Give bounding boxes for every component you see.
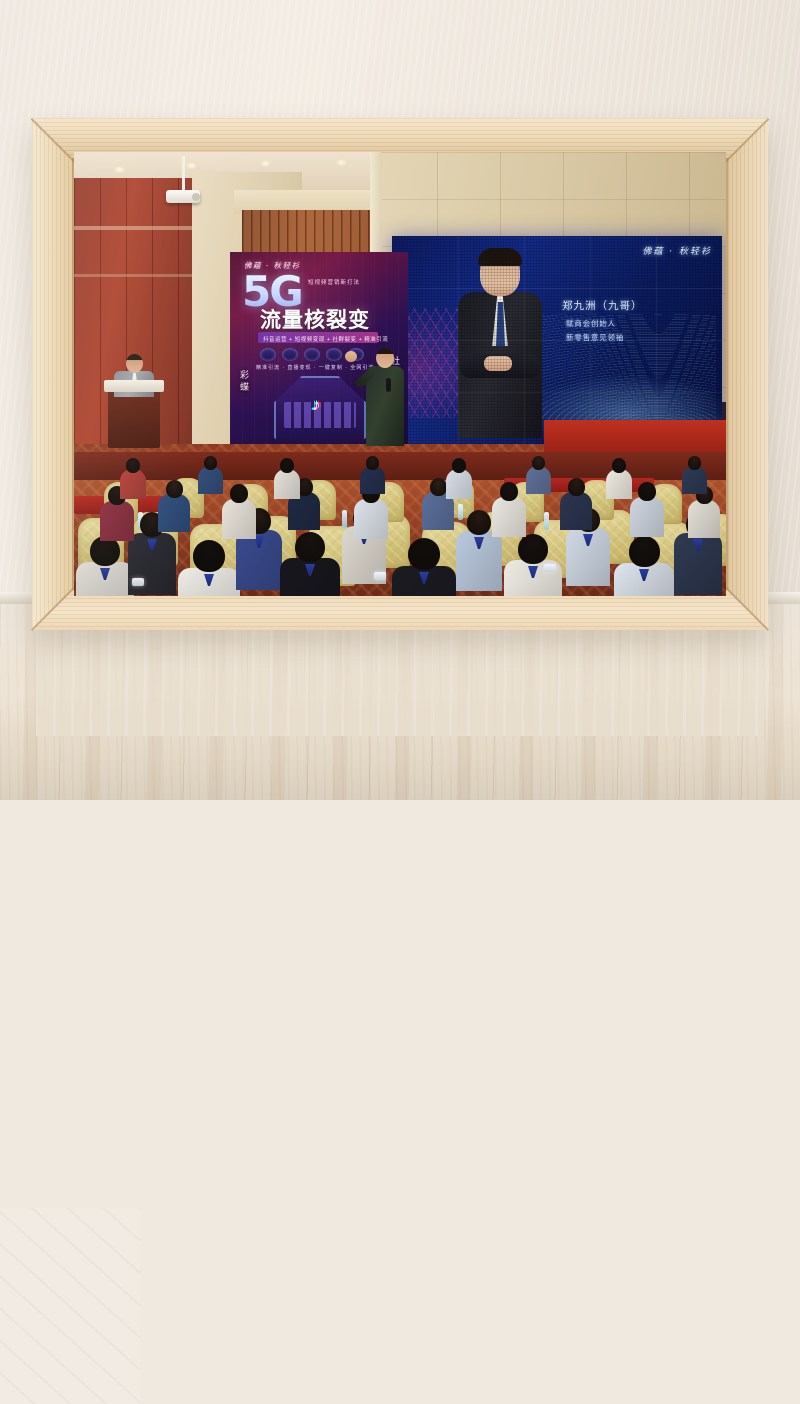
audience-member bbox=[274, 458, 300, 503]
attendee-head bbox=[280, 458, 294, 473]
scene-root: 郑九洲（九哥） 赋商会创始人 新零售意见领袖 佛蕴 · 秋轻衫 佛蕴 · 秋轻衫… bbox=[0, 0, 800, 800]
frame-bevel-right bbox=[724, 118, 768, 630]
attendee-torso bbox=[222, 499, 256, 539]
smartphone bbox=[374, 572, 386, 580]
frame-bevel-left bbox=[32, 118, 76, 630]
banner-dot-icon bbox=[326, 348, 342, 361]
attendee-head bbox=[612, 458, 626, 473]
audience-area bbox=[74, 452, 726, 596]
downlight-icon bbox=[260, 160, 271, 167]
attendee-torso bbox=[688, 500, 720, 538]
attendee-head bbox=[193, 540, 225, 572]
attendee-torso bbox=[158, 494, 190, 532]
frame-grain-right bbox=[724, 118, 768, 630]
water-bottle bbox=[544, 512, 549, 530]
audience-member bbox=[178, 540, 240, 596]
audience-member bbox=[492, 482, 526, 541]
attendee-torso bbox=[274, 469, 300, 499]
audience-member bbox=[606, 458, 632, 503]
attendee-torso bbox=[198, 466, 223, 494]
banner-tagline: 短视频营销新打法 bbox=[308, 278, 360, 286]
banner-vertical-left: 彩蝶 bbox=[238, 370, 251, 394]
attendee-torso bbox=[354, 499, 388, 539]
banner-dot-icon bbox=[304, 348, 320, 361]
attendee-head bbox=[204, 456, 217, 470]
audience-member bbox=[446, 458, 472, 503]
attendee-torso bbox=[682, 466, 707, 494]
smartphone bbox=[132, 578, 144, 586]
presenter-hand bbox=[345, 351, 357, 362]
audience-member bbox=[222, 484, 256, 543]
attendee-torso bbox=[560, 492, 592, 530]
podium bbox=[108, 388, 160, 448]
audience-member bbox=[360, 456, 385, 498]
projector-lens-icon bbox=[192, 193, 200, 201]
attendee-head bbox=[638, 482, 656, 501]
audience-member bbox=[280, 532, 340, 596]
attendee-head bbox=[688, 456, 701, 470]
podium-speaker-head bbox=[126, 354, 143, 373]
projector-mount-rod bbox=[182, 156, 185, 192]
audience-member bbox=[526, 456, 551, 498]
attendee-head bbox=[500, 482, 518, 501]
presenter-head bbox=[376, 348, 394, 368]
audience-member bbox=[158, 480, 190, 536]
floor-tiles-left bbox=[0, 1208, 140, 1404]
downlight-icon bbox=[336, 159, 347, 166]
attendee-torso bbox=[492, 497, 526, 537]
audience-member bbox=[120, 458, 146, 503]
attendee-head bbox=[366, 456, 379, 470]
frame-grain-left bbox=[32, 118, 76, 630]
banner-dot-icon bbox=[260, 348, 276, 361]
attendee-head bbox=[230, 484, 248, 503]
attendee-head bbox=[467, 510, 491, 535]
audience-member bbox=[614, 536, 674, 596]
led-pixel-grid bbox=[392, 236, 722, 444]
attendee-torso bbox=[606, 469, 632, 499]
audience-member bbox=[76, 536, 134, 596]
attendee-torso bbox=[360, 466, 385, 494]
audience-member bbox=[682, 456, 707, 498]
audience-member bbox=[392, 538, 456, 596]
attendee-head bbox=[568, 478, 585, 496]
banner-dot-icon bbox=[282, 348, 298, 361]
stage-presenter bbox=[356, 338, 412, 450]
smartphone bbox=[544, 564, 556, 572]
downlight-icon bbox=[186, 162, 197, 169]
downlight-icon bbox=[114, 166, 125, 173]
douyin-note-icon: ♪ bbox=[312, 396, 330, 418]
conference-photograph: 郑九洲（九哥） 赋商会创始人 新零售意见领袖 佛蕴 · 秋轻衫 佛蕴 · 秋轻衫… bbox=[74, 152, 726, 596]
led-screen: 郑九洲（九哥） 赋商会创始人 新零售意见领袖 佛蕴 · 秋轻衫 bbox=[392, 236, 722, 444]
attendee-torso bbox=[446, 469, 472, 499]
attendee-head bbox=[126, 458, 140, 473]
attendee-head bbox=[295, 532, 325, 562]
attendee-torso bbox=[120, 469, 146, 499]
attendee-torso bbox=[280, 558, 340, 596]
banner-main-headline: 流量核裂变 bbox=[260, 304, 370, 334]
audience-member bbox=[560, 478, 592, 534]
attendee-torso bbox=[630, 497, 664, 537]
attendee-torso bbox=[100, 501, 134, 541]
attendee-head bbox=[532, 456, 545, 470]
audience-member bbox=[198, 456, 223, 498]
attendee-head bbox=[166, 480, 183, 498]
attendee-torso bbox=[526, 466, 551, 494]
podium-top-surface bbox=[104, 380, 164, 392]
microphone-icon bbox=[386, 378, 391, 392]
attendee-head bbox=[408, 538, 440, 570]
attendee-head bbox=[430, 478, 447, 496]
attendee-head bbox=[452, 458, 466, 473]
audience-member bbox=[630, 482, 664, 541]
